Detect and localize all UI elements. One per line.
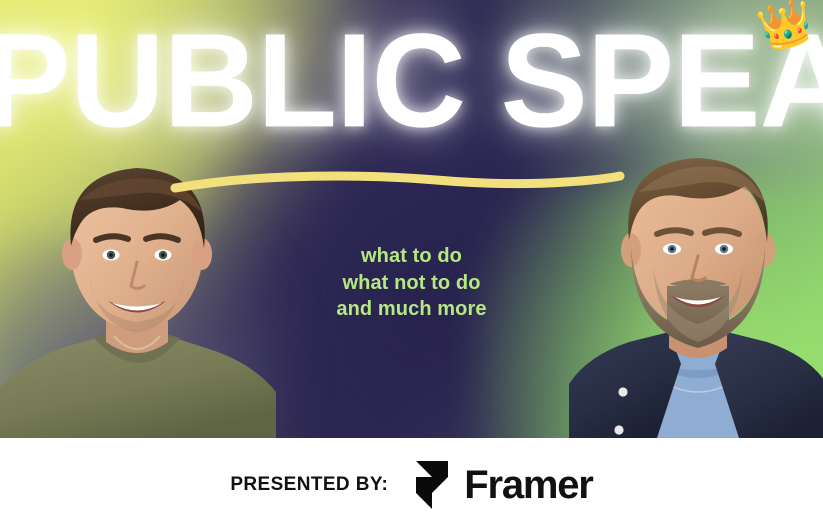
presented-by-label: PRESENTED BY:	[230, 474, 388, 496]
subtitle-line-2: what not to do	[0, 270, 823, 297]
subtitle: what to do what not to do and much more	[0, 243, 823, 323]
hero-section: PUBLIC SPEAKING 👑 what to do what not to…	[0, 0, 823, 438]
footer-bar: PRESENTED BY: Framer	[0, 438, 823, 532]
subtitle-line-3: and much more	[0, 296, 823, 323]
framer-brand-lockup: Framer	[414, 460, 592, 510]
framer-logo-icon	[414, 460, 450, 510]
framer-wordmark: Framer	[464, 463, 592, 507]
page-title: PUBLIC SPEAKING	[0, 14, 823, 148]
event-promo-banner: PUBLIC SPEAKING 👑 what to do what not to…	[0, 0, 823, 532]
subtitle-line-1: what to do	[0, 243, 823, 270]
